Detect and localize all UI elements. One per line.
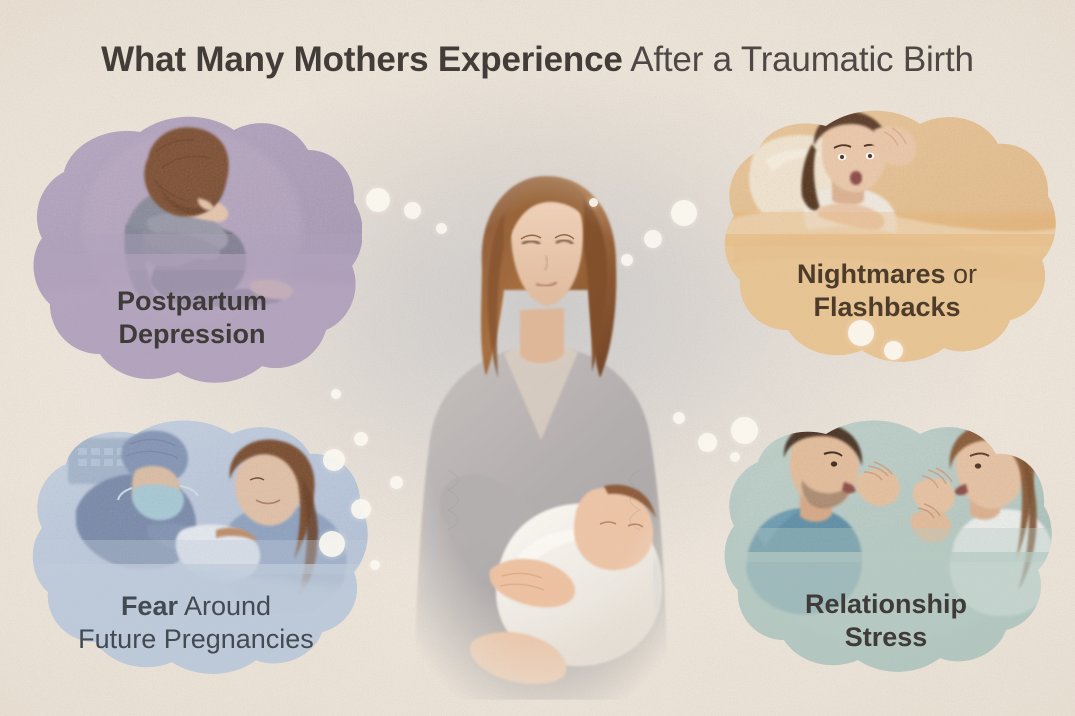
title-bold-part: What Many Mothers Experience xyxy=(101,40,622,79)
title-regular-part: After a Traumatic Birth xyxy=(623,40,974,79)
thought-dot xyxy=(884,341,903,360)
page-title: What Many Mothers Experience After a Tra… xyxy=(0,40,1075,80)
thought-dot xyxy=(698,433,717,452)
cloud-nightmares-flashbacks[interactable] xyxy=(714,104,1060,366)
thought-dot xyxy=(848,320,874,346)
thought-dot xyxy=(621,254,633,266)
thought-dot xyxy=(351,499,371,519)
thought-dot xyxy=(331,389,341,399)
infographic-canvas: What Many Mothers Experience After a Tra… xyxy=(0,0,1075,716)
thought-dot xyxy=(390,476,403,489)
thought-dot xyxy=(323,449,345,471)
title-container: What Many Mothers Experience After a Tra… xyxy=(0,40,1075,80)
thought-dot xyxy=(671,200,697,226)
cloud-postpartum-depression[interactable] xyxy=(22,106,362,396)
thought-dot xyxy=(730,452,740,462)
thought-dot xyxy=(319,531,345,557)
thought-dot xyxy=(589,198,598,207)
thought-dot xyxy=(731,417,758,444)
thought-dot xyxy=(673,412,685,424)
thought-dot xyxy=(404,202,421,219)
thought-dot xyxy=(370,560,380,570)
thought-dot xyxy=(366,188,390,212)
thought-dot xyxy=(436,223,447,234)
cloud-relationship-stress[interactable] xyxy=(716,414,1056,676)
thought-dot xyxy=(644,230,662,248)
thought-dot xyxy=(354,432,368,446)
center-illustration-mother-and-baby xyxy=(378,140,708,700)
